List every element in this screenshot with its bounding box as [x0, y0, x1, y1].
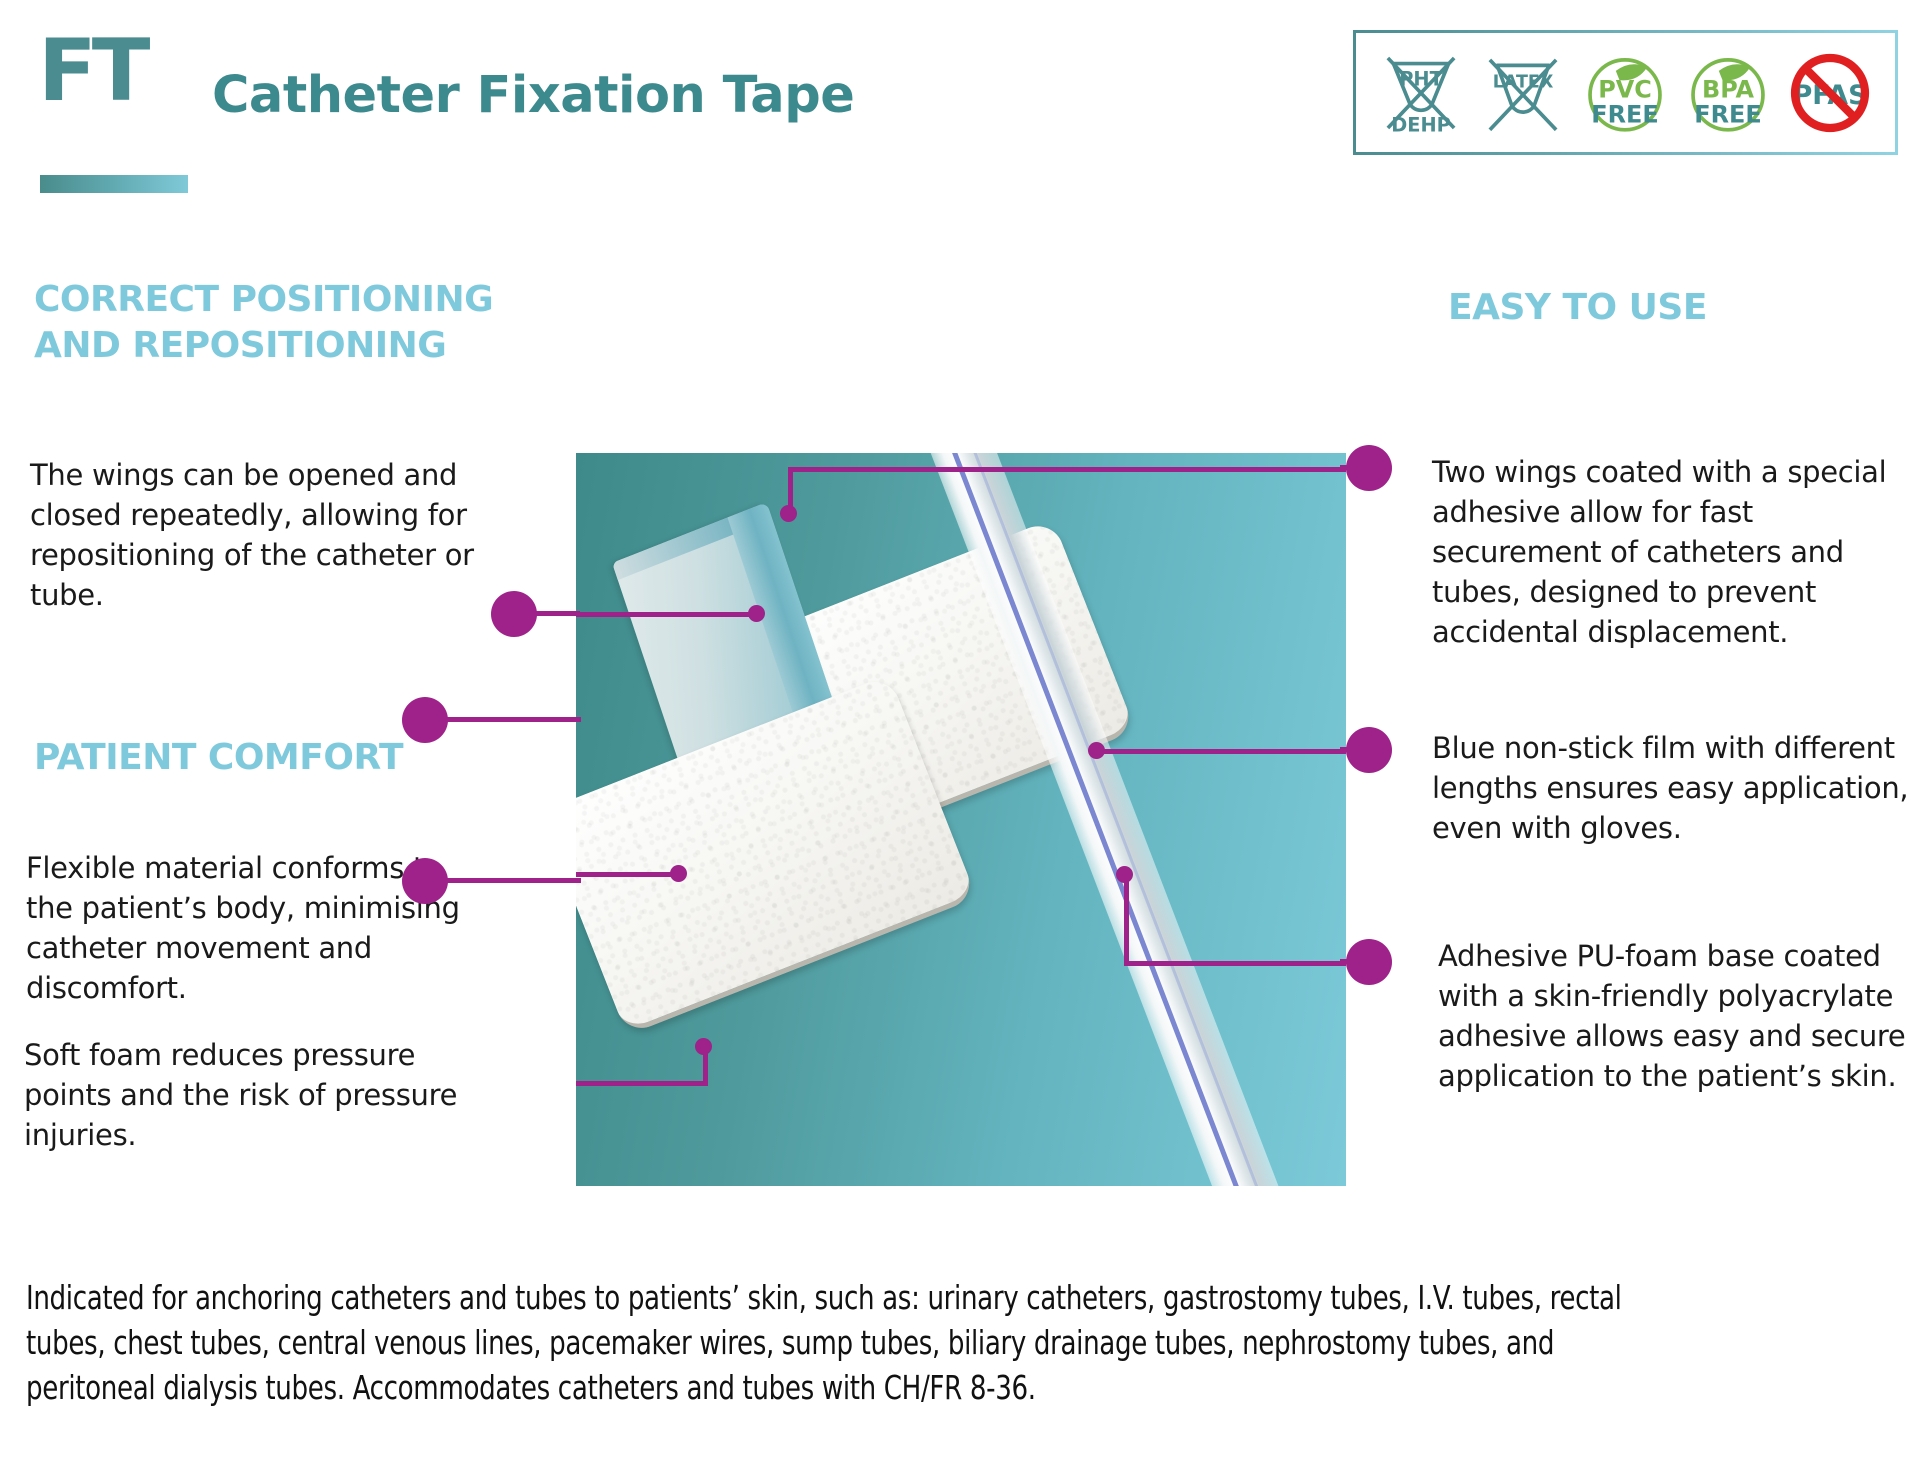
- callout-anchor-dot-flexible: [670, 865, 687, 882]
- callout-line-top-right: [788, 467, 1346, 472]
- pfas-free-badge: PFAS: [1783, 47, 1877, 139]
- callout-line-lower-right: [1124, 961, 1346, 966]
- callout-lead-two-wings: [1340, 465, 1354, 470]
- certification-badge-strip: PHT DEHP LATEX PVC FREE: [1353, 30, 1898, 155]
- callout-lead-wings-reposition: [536, 611, 580, 616]
- callout-anchor-dot-reposition: [748, 605, 765, 622]
- pht-dehp-free-badge: PHT DEHP: [1374, 47, 1468, 139]
- callout-line-lower-right-rise: [1124, 873, 1129, 966]
- feature-text-pu-foam-base: Adhesive PU-foam base coated with a skin…: [1438, 936, 1918, 1096]
- leaf-circle-icon: PVC FREE: [1578, 47, 1672, 139]
- latex-free-badge: LATEX: [1476, 47, 1570, 139]
- feature-text-two-wings: Two wings coated with a special adhesive…: [1432, 452, 1912, 652]
- badge-line2: FREE: [1694, 100, 1761, 128]
- leaf-circle-icon: BPA FREE: [1681, 47, 1775, 139]
- page-title: Catheter Fixation Tape: [212, 66, 854, 125]
- bpa-free-badge: BPA FREE: [1681, 47, 1775, 139]
- badge-line2: DEHP: [1391, 113, 1451, 136]
- feature-text-wings-reposition: The wings can be opened and closed repea…: [30, 455, 500, 615]
- badge-line1: BPA: [1702, 75, 1755, 103]
- badge-line1: LATEX: [1493, 72, 1554, 92]
- crossed-goblet-icon: LATEX: [1476, 47, 1570, 139]
- callout-line-mid-left: [576, 612, 756, 617]
- prohibition-icon: PFAS: [1783, 47, 1877, 139]
- badge-line1: PHT: [1399, 67, 1443, 90]
- feature-text-blue-film: Blue non-stick film with different lengt…: [1432, 728, 1912, 848]
- logo-mark: FT: [38, 26, 145, 116]
- feature-text-soft-foam: Soft foam reduces pressure points and th…: [24, 1035, 494, 1155]
- callout-line-lower-left: [576, 872, 678, 877]
- section-heading-correct-positioning: CORRECT POSITIONING AND REPOSITIONING: [34, 277, 654, 369]
- callout-line-mid-right: [1096, 749, 1346, 754]
- brand-logo: FT: [38, 26, 145, 116]
- callout-anchor-dot-pufoam: [1116, 866, 1133, 883]
- logo-accent-bar: [40, 175, 188, 193]
- badge-line2: FREE: [1592, 100, 1659, 128]
- crossed-goblet-icon: PHT DEHP: [1374, 47, 1468, 139]
- callout-dot-flexible-material: [402, 697, 448, 743]
- badge-line1: PVC: [1599, 75, 1653, 103]
- callout-anchor-dot-wings: [780, 505, 797, 522]
- section-heading-easy-to-use: EASY TO USE: [1448, 285, 1920, 331]
- tube-blue-stripe: [927, 453, 1272, 1186]
- callout-dot-wings-reposition: [491, 591, 537, 637]
- callout-anchor-dot-film: [1088, 742, 1105, 759]
- pvc-free-badge: PVC FREE: [1578, 47, 1672, 139]
- callout-lead-flexible-material: [447, 717, 581, 722]
- product-photo: [576, 453, 1346, 1186]
- callout-lead-pu-foam: [1340, 959, 1354, 964]
- page-header: FT Catheter Fixation Tape PHT DEHP LATEX: [0, 0, 1920, 215]
- callout-dot-soft-foam: [402, 858, 448, 904]
- callout-line-bottom-left: [576, 1081, 708, 1086]
- section-heading-patient-comfort: PATIENT COMFORT: [34, 735, 654, 781]
- callout-anchor-dot-softfoam: [695, 1038, 712, 1055]
- indications-paragraph: Indicated for anchoring catheters and tu…: [26, 1275, 1680, 1410]
- callout-lead-blue-film: [1340, 747, 1354, 752]
- callout-lead-soft-foam: [447, 878, 581, 883]
